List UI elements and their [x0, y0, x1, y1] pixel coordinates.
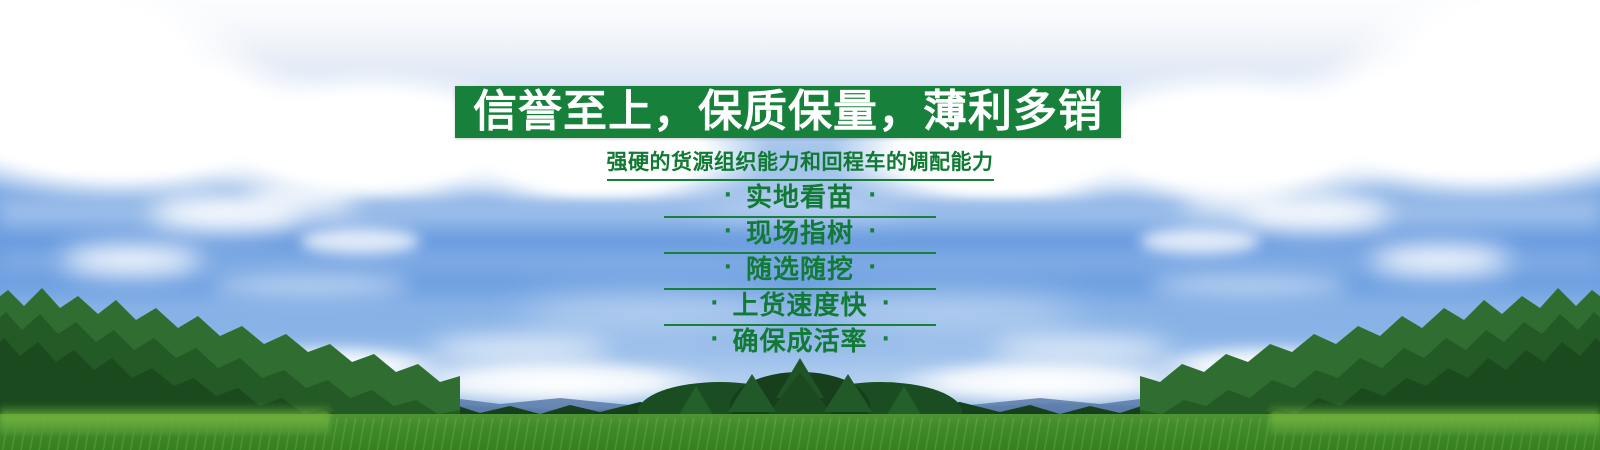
feature-label: 确保成活率: [732, 329, 867, 355]
bullet-dot-icon: ·: [710, 329, 718, 351]
promotional-banner: 信誉至上，保质保量，薄利多销 强硬的货源组织能力和回程车的调配能力 · 实地看苗…: [0, 0, 1600, 450]
feature-label: 随选随挖: [746, 257, 854, 283]
feature-list: · 实地看苗 · · 现场指树 · · 随选随挖 · · 上货速度快 · ·: [650, 180, 950, 360]
bullet-dot-icon: ·: [868, 185, 876, 207]
subtitle-text: 强硬的货源组织能力和回程车的调配能力: [607, 146, 994, 181]
bullet-dot-icon: ·: [724, 185, 732, 207]
banner-content: 信誉至上，保质保量，薄利多销 强硬的货源组织能力和回程车的调配能力 · 实地看苗…: [0, 0, 1600, 450]
bullet-dot-icon: ·: [724, 221, 732, 243]
headline-text: 信誉至上，保质保量，薄利多销: [473, 90, 1103, 134]
feature-item-1: · 实地看苗 ·: [650, 180, 950, 216]
feature-item-4: · 上货速度快 ·: [650, 288, 950, 324]
feature-item-3: · 随选随挖 ·: [650, 252, 950, 288]
bullet-dot-icon: ·: [724, 257, 732, 279]
bullet-dot-icon: ·: [868, 257, 876, 279]
bullet-dot-icon: ·: [710, 293, 718, 315]
feature-item-5: · 确保成活率 ·: [650, 324, 950, 360]
feature-item-2: · 现场指树 ·: [650, 216, 950, 252]
feature-label: 上货速度快: [732, 293, 867, 319]
bullet-dot-icon: ·: [882, 293, 890, 315]
bullet-dot-icon: ·: [882, 329, 890, 351]
bullet-dot-icon: ·: [868, 221, 876, 243]
feature-label: 现场指树: [746, 221, 854, 247]
headline-bar: 信誉至上，保质保量，薄利多销: [455, 86, 1121, 138]
subtitle-row: 强硬的货源组织能力和回程车的调配能力: [0, 146, 1600, 181]
feature-label: 实地看苗: [746, 185, 854, 211]
